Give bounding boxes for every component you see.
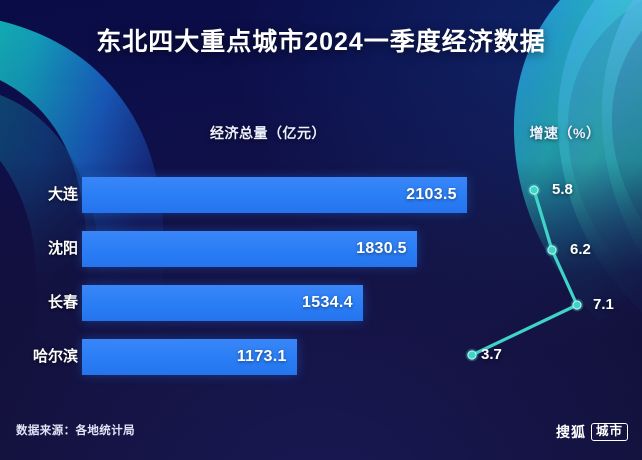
bar-track: 1173.1 [82, 339, 482, 375]
line-marker [468, 351, 476, 359]
bar-category-label: 沈阳 [18, 230, 78, 268]
line-point-label: 6.2 [570, 241, 591, 258]
bar-row: 长春 1534.4 [0, 284, 500, 322]
bar-track: 1534.4 [82, 285, 482, 321]
line-point-label: 7.1 [593, 296, 614, 313]
infographic-canvas: 东北四大重点城市2024一季度经济数据 经济总量（亿元） 增速（%） 大连 21… [0, 0, 642, 460]
bar-track: 1830.5 [82, 231, 482, 267]
bar-category-label: 长春 [18, 284, 78, 322]
bar-chart-header: 经济总量（亿元） [148, 123, 388, 143]
line-marker [573, 301, 581, 309]
bar-value-label: 1173.1 [237, 339, 287, 375]
bar-chart: 大连 2103.5 沈阳 1830.5 长春 1534.4 [0, 168, 500, 384]
line-point-label: 5.8 [552, 181, 573, 198]
bar-row: 大连 2103.5 [0, 176, 500, 214]
bar-track: 2103.5 [82, 177, 482, 213]
bar-value-label: 1830.5 [356, 231, 407, 267]
line-marker [548, 246, 556, 254]
data-source-note: 数据来源：各地统计局 [16, 422, 135, 438]
page-title: 东北四大重点城市2024一季度经济数据 [0, 22, 642, 58]
bar-category-label: 哈尔滨 [4, 338, 78, 376]
bar-value-label: 1534.4 [302, 285, 353, 321]
bar-fill: 1830.5 [82, 231, 417, 267]
line-chart: 5.8 6.2 7.1 3.7 [440, 160, 642, 390]
bar-category-label: 大连 [18, 176, 78, 214]
bar-fill: 1534.4 [82, 285, 363, 321]
line-chart-header: 增速（%） [505, 123, 625, 143]
line-chart-svg [440, 160, 642, 390]
line-marker [530, 186, 538, 194]
brand-name-label: 搜狐 [556, 422, 586, 442]
line-marker-group [466, 184, 584, 362]
brand-tag-label: 城市 [591, 423, 628, 441]
line-point-label: 3.7 [481, 346, 502, 363]
bar-fill: 1173.1 [82, 339, 297, 375]
bar-fill: 2103.5 [82, 177, 467, 213]
brand-logo: 搜狐 城市 [556, 422, 628, 442]
line-series-path [472, 190, 577, 355]
bar-row: 沈阳 1830.5 [0, 230, 500, 268]
bar-row: 哈尔滨 1173.1 [0, 338, 500, 376]
